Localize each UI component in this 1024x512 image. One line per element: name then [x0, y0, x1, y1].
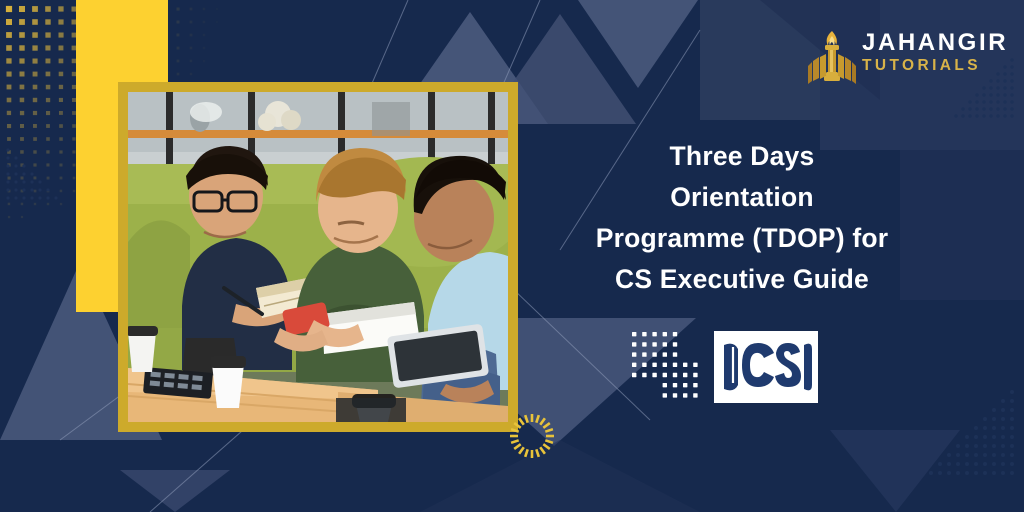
banner: Three Days Orientation Programme (TDOP) …: [0, 0, 1024, 512]
dot-grid-pattern: [630, 330, 706, 404]
icsi-wordmark-icon: [720, 339, 812, 395]
students-photo: [128, 92, 508, 422]
title-line-3: Programme (TDOP) for: [540, 218, 944, 259]
icsi-logo-badge: [714, 331, 818, 403]
brand-name: JAHANGIR TUTORIALS: [862, 30, 1012, 76]
photo-frame: [118, 82, 518, 432]
page-title: Three Days Orientation Programme (TDOP) …: [540, 136, 944, 300]
brand-logo[interactable]: JAHANGIR TUTORIALS: [806, 26, 966, 90]
title-line-1: Three Days: [540, 136, 944, 177]
torch-book-icon: [806, 28, 858, 88]
brand-name-secondary: TUTORIALS: [862, 56, 1012, 76]
sunburst-icon: [504, 408, 560, 464]
title-line-4: CS Executive Guide: [540, 259, 944, 300]
title-line-2: Orientation: [540, 177, 944, 218]
brand-name-primary: JAHANGIR: [862, 30, 1012, 56]
